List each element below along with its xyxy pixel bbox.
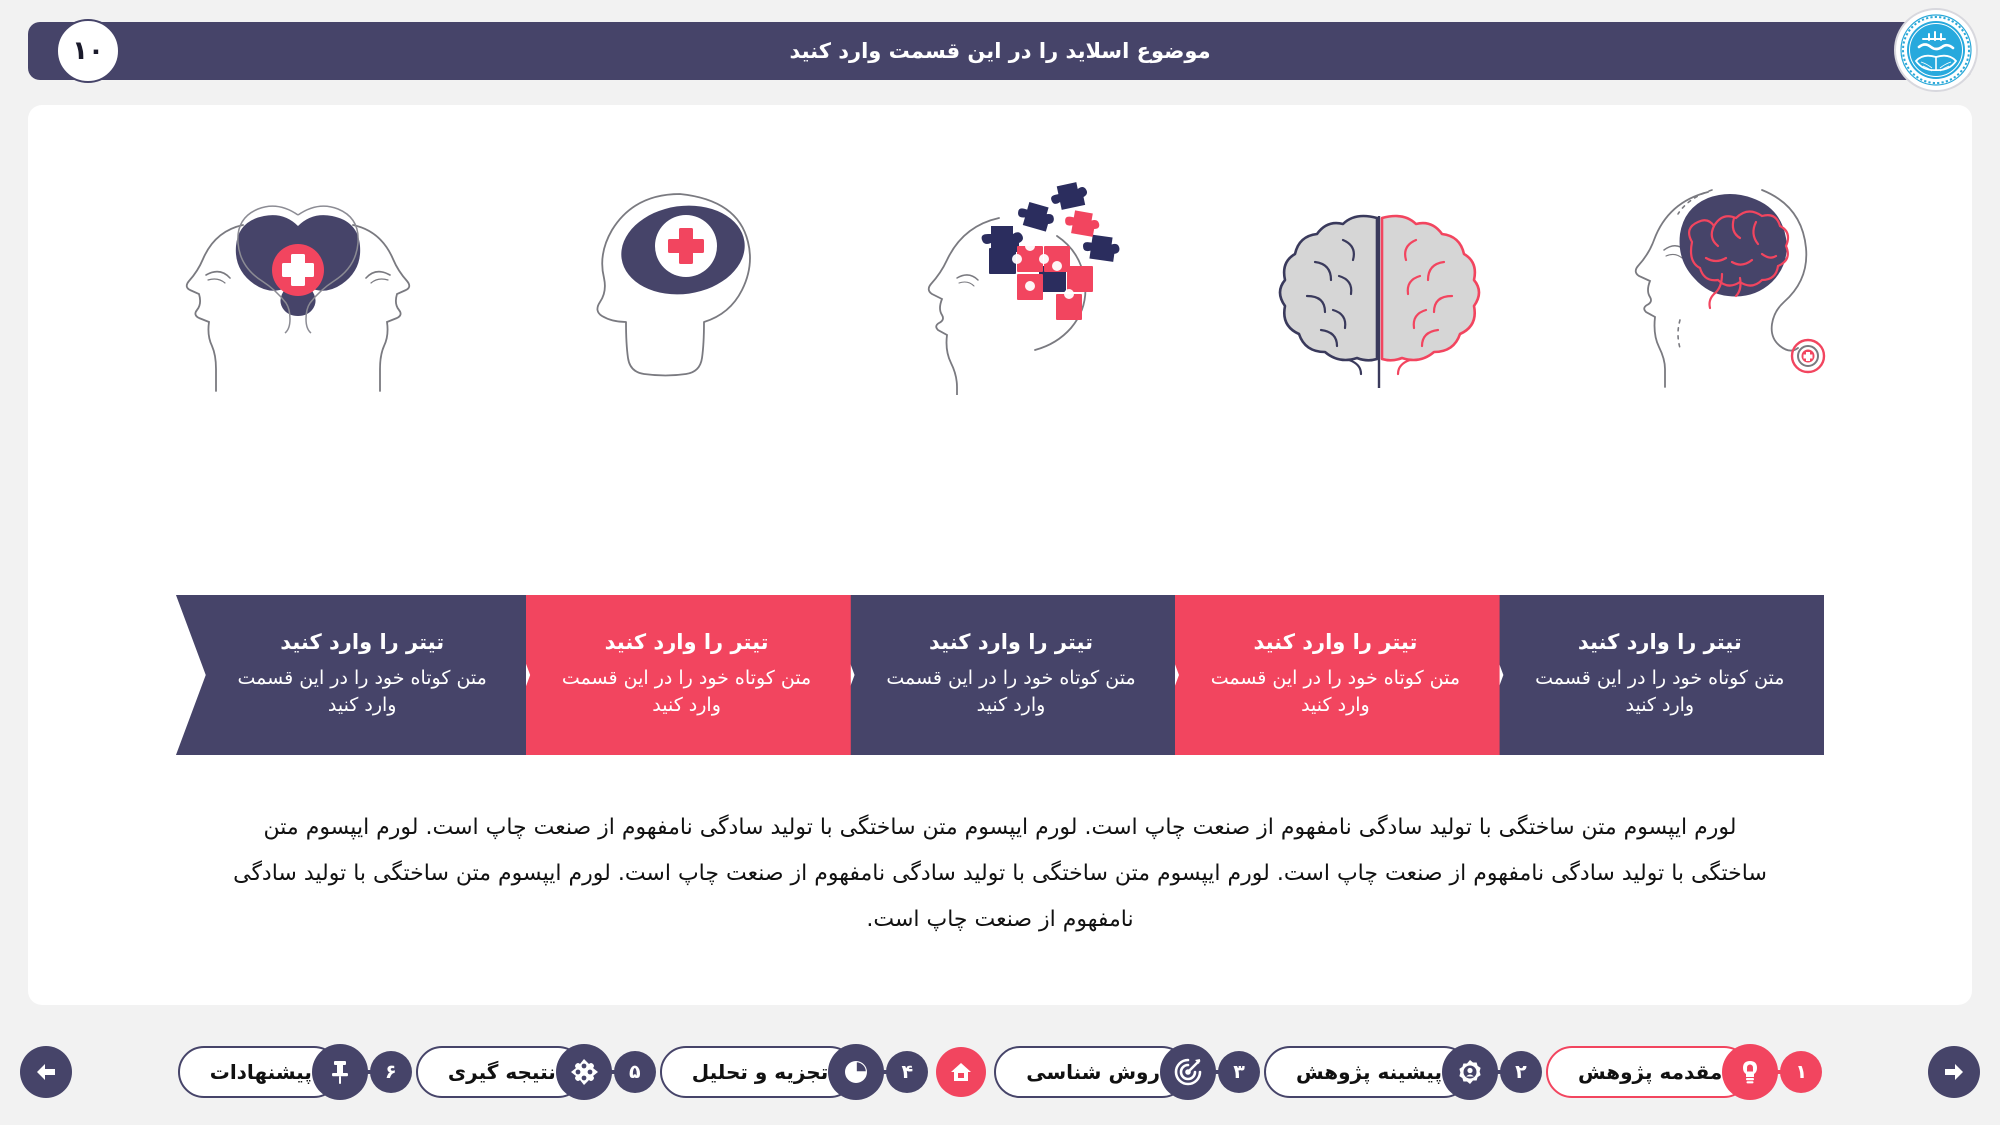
nav-item-label[interactable]: پیشینه پژوهش [1264, 1046, 1470, 1098]
puzzle-icon [556, 1044, 612, 1100]
nav-item-number: ۱ [1780, 1051, 1822, 1093]
presentation-slide: موضوع اسلاید را در این قسمت وارد کنید ۱۰ [0, 0, 2000, 1125]
arrow-segment-body: متن کوتاه خود را در این قسمت وارد کنید [881, 665, 1141, 720]
puzzle-icon-glyph [568, 1056, 600, 1088]
head-brain-medical-cross-circle-illustration [588, 180, 773, 395]
arrow-segment-1[interactable]: تیتر را وارد کنید متن کوتاه خود را در ای… [1474, 595, 1824, 755]
puzzle-pieces [981, 180, 1120, 292]
arrow-segment-2[interactable]: تیتر را وارد کنید متن کوتاه خود را در ای… [1149, 595, 1499, 755]
gear-icon [1442, 1044, 1498, 1100]
gear-icon-glyph [1455, 1057, 1485, 1087]
pushpin-icon-glyph [325, 1057, 355, 1087]
previous-slide-arrow-button[interactable] [20, 1046, 72, 1098]
nav-item-number: ۲ [1500, 1051, 1542, 1093]
nav-item-pishnahadat[interactable]: ۶ پیشنهادات [178, 1044, 412, 1100]
nav-item-label[interactable]: تجزیه و تحلیل [660, 1046, 856, 1098]
arrow-segment-title: تیتر را وارد کنید [1253, 630, 1417, 655]
bottom-navigation: ۱ مقدمه پژوهش ۲ [20, 1037, 1980, 1107]
arrow-segment-body: متن کوتاه خود را در این قسمت وارد کنید [556, 665, 816, 720]
body-paragraph: لورم ایپسوم متن ساختگی با تولید سادگی نا… [228, 805, 1772, 944]
logo-icon [1899, 13, 1973, 87]
arrow-segment-title: تیتر را وارد کنید [1578, 630, 1742, 655]
nav-item-label[interactable]: مقدمه پژوهش [1546, 1046, 1750, 1098]
next-slide-arrow-button[interactable] [1928, 1046, 1980, 1098]
slide-number-badge: ۱۰ [56, 19, 120, 83]
arrow-segment-3[interactable]: تیتر را وارد کنید متن کوتاه خود را در ای… [825, 595, 1175, 755]
arrow-segment-title: تیتر را وارد کنید [605, 630, 769, 655]
target-icon [1160, 1044, 1216, 1100]
target-icon-glyph [1172, 1056, 1204, 1088]
arrow-segment-title: تیتر را وارد کنید [929, 630, 1093, 655]
nav-item-label[interactable]: روش شناسی [994, 1046, 1188, 1098]
brain-hemispheres-top-view-illustration [1277, 200, 1482, 395]
content-card: تیتر را وارد کنید متن کوتاه خود را در ای… [28, 105, 1972, 1005]
arrow-segment-title: تیتر را وارد کنید [280, 630, 444, 655]
head-brain-stethoscope-medical-illustration [1622, 170, 1852, 395]
nav-item-number: ۳ [1218, 1051, 1260, 1093]
arrow-segment-body: متن کوتاه خود را در این قسمت وارد کنید [1530, 665, 1790, 720]
home-icon [948, 1059, 974, 1085]
nav-item-pishine-pajohesh[interactable]: ۲ پیشینه پژوهش [1264, 1044, 1542, 1100]
arrow-segment-5[interactable]: تیتر را وارد کنید متن کوتاه خود را در ای… [176, 595, 526, 755]
lightbulb-icon-glyph [1735, 1057, 1765, 1087]
arrow-segment-4[interactable]: تیتر را وارد کنید متن کوتاه خود را در ای… [500, 595, 850, 755]
pie-chart-icon-glyph [841, 1057, 871, 1087]
nav-item-number: ۶ [370, 1051, 412, 1093]
arrow-segment-body: متن کوتاه خود را در این قسمت وارد کنید [232, 665, 492, 720]
arrow-segment-body: متن کوتاه خود را در این قسمت وارد کنید [1205, 665, 1465, 720]
slide-number-text: ۱۰ [72, 36, 104, 66]
home-button[interactable] [936, 1047, 986, 1097]
two-heads-shared-brain-medical-cross-illustration [148, 180, 448, 395]
pushpin-icon [312, 1044, 368, 1100]
nav-item-natije-giri[interactable]: ۵ نتیجه گیری [416, 1044, 656, 1100]
nav-item-number: ۵ [614, 1051, 656, 1093]
nav-item-number: ۴ [886, 1051, 928, 1093]
head-puzzle-pieces-brain-illustration [913, 170, 1138, 395]
nav-item-tajzie-tahlil[interactable]: ۴ تجزیه و تحلیل [660, 1044, 928, 1100]
arrow-left-icon [33, 1059, 59, 1085]
lightbulb-idea-icon [1722, 1044, 1778, 1100]
nav-item-ravesh-shenasi[interactable]: ۳ روش شناسی [994, 1044, 1260, 1100]
pie-chart-icon [828, 1044, 884, 1100]
arrow-right-icon [1941, 1059, 1967, 1085]
nav-items-group: ۱ مقدمه پژوهش ۲ [176, 1044, 1825, 1100]
page-title: موضوع اسلاید را در این قسمت وارد کنید [789, 39, 1210, 63]
illustration-row [148, 165, 1852, 395]
university-of-tehran-logo [1894, 8, 1978, 92]
arrow-ribbon: تیتر را وارد کنید متن کوتاه خود را در ای… [176, 595, 1824, 755]
header-bar: موضوع اسلاید را در این قسمت وارد کنید [28, 22, 1972, 80]
nav-item-moghadame-pajohesh[interactable]: ۱ مقدمه پژوهش [1546, 1044, 1822, 1100]
